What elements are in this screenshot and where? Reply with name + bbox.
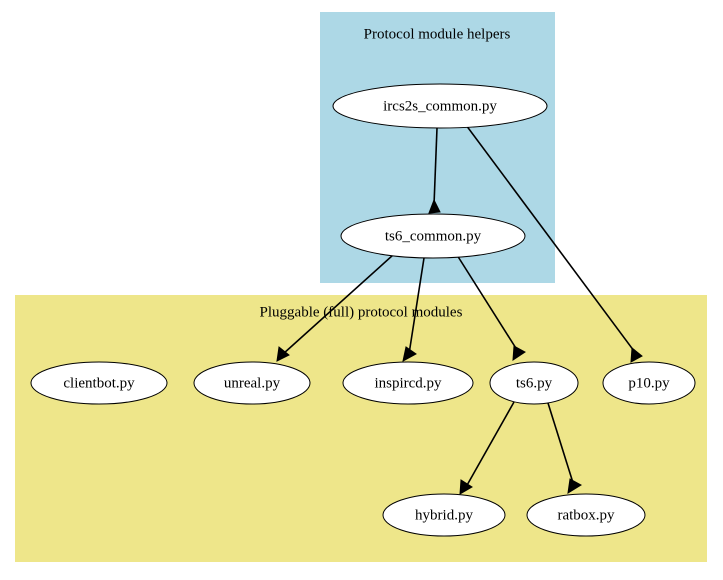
node-hybrid[interactable]: hybrid.py [383, 494, 505, 536]
node-label: clientbot.py [63, 375, 135, 391]
node-unreal[interactable]: unreal.py [194, 362, 310, 404]
node-label: inspircd.py [374, 375, 442, 391]
node-label: ircs2s_common.py [383, 98, 497, 114]
node-ts6[interactable]: ts6.py [490, 362, 578, 404]
node-clientbot[interactable]: clientbot.py [31, 362, 167, 404]
node-label: unreal.py [224, 375, 281, 391]
node-inspircd[interactable]: inspircd.py [343, 362, 473, 404]
node-ircs2s-common[interactable]: ircs2s_common.py [333, 84, 547, 128]
node-label: ratbox.py [557, 507, 615, 523]
diagram-canvas: Protocol module helpers Pluggable (full)… [0, 0, 723, 580]
cluster-pluggable-label: Pluggable (full) protocol modules [260, 304, 463, 320]
cluster-helpers-label: Protocol module helpers [364, 26, 511, 42]
node-label: hybrid.py [415, 507, 473, 523]
node-p10[interactable]: p10.py [603, 362, 695, 404]
node-ratbox[interactable]: ratbox.py [527, 494, 645, 536]
node-label: p10.py [628, 375, 670, 391]
node-label: ts6.py [516, 375, 553, 391]
node-ts6-common[interactable]: ts6_common.py [341, 214, 525, 258]
node-label: ts6_common.py [385, 228, 482, 244]
protocol-module-graph: Protocol module helpers Pluggable (full)… [0, 0, 723, 580]
